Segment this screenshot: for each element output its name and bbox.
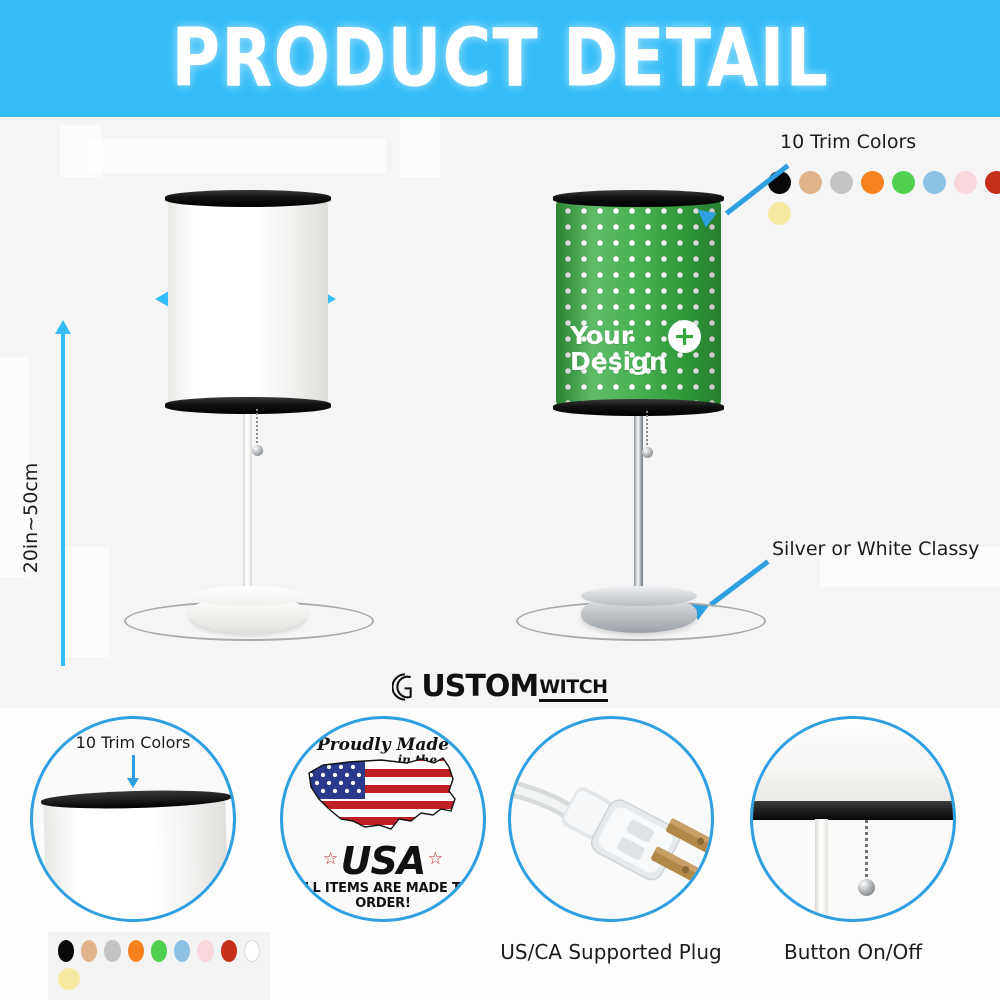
trim-swatch-light-blue[interactable] xyxy=(174,940,190,962)
trim-swatch-tan[interactable] xyxy=(799,171,822,194)
trim-swatch-white[interactable] xyxy=(244,940,260,962)
trim-swatch-pink[interactable] xyxy=(197,940,213,962)
onoff-shade-closeup xyxy=(750,716,956,801)
white-shade-trim-bottom xyxy=(165,397,331,414)
usa-script-top: Proudly Made xyxy=(283,735,483,755)
base-finish-callout-label: Silver or White Classy xyxy=(772,538,979,560)
page-title: PRODUCT DETAIL xyxy=(171,12,829,105)
trim-colors-down-arrow xyxy=(132,755,135,779)
button-on-off-caption: Button On/Off xyxy=(742,940,964,964)
trim-swatch-pink[interactable] xyxy=(954,171,977,194)
feature-button-on-off: Button On/Off xyxy=(742,716,964,922)
logo-sub-text: WITCH xyxy=(539,678,607,702)
arrow-shaft xyxy=(725,164,790,216)
usa-big-text: USA xyxy=(283,839,483,883)
trim-swatch-black[interactable] xyxy=(58,940,74,962)
product-stage: 7in~18cm 20in~50cm xyxy=(0,117,1000,707)
white-lamp xyxy=(160,197,335,647)
height-dimension-label: 20in~50cm xyxy=(20,448,42,588)
green-shade-gloss xyxy=(556,197,721,409)
usa-footer-text: ALL ITEMS ARE MADE TO ORDER! xyxy=(283,881,483,911)
trim-swatch-gray[interactable] xyxy=(830,171,853,194)
add-design-plus-icon[interactable]: + xyxy=(668,320,701,353)
bg-wash xyxy=(60,547,110,657)
onoff-black-trim xyxy=(750,801,956,820)
trim-color-swatch-row-primary xyxy=(768,171,1000,194)
trim-colors-shade-closeup xyxy=(43,798,228,922)
white-lamp-base-top xyxy=(190,586,306,606)
logo-c-icon xyxy=(392,672,420,702)
usa-star-right-icon: ☆ xyxy=(428,849,443,869)
chain-line xyxy=(256,409,258,447)
green-lamp-shade: Your Design + xyxy=(556,197,721,409)
trim-colors-inner-label: 10 Trim Colors xyxy=(33,733,233,752)
plug-caption: US/CA Supported Plug xyxy=(500,940,722,964)
feature-plug: US/CA Supported Plug xyxy=(500,716,722,922)
button-on-off-circle xyxy=(750,716,956,922)
bottom-swatch-row-1 xyxy=(58,940,260,962)
white-lamp-base xyxy=(190,595,306,633)
trim-swatch-tan[interactable] xyxy=(81,940,97,962)
brand-logo: USTOM WITCH xyxy=(0,666,1000,708)
usa-star-left-icon: ☆ xyxy=(323,849,338,869)
trim-swatch-green[interactable] xyxy=(892,171,915,194)
trim-swatch-gray[interactable] xyxy=(104,940,120,962)
trim-swatch-red[interactable] xyxy=(221,940,237,962)
chain-bead xyxy=(252,445,263,456)
design-line-2: Design xyxy=(570,349,698,375)
arrow-shaft xyxy=(709,560,770,607)
bg-wash xyxy=(400,117,440,177)
trim-swatch-light-blue[interactable] xyxy=(923,171,946,194)
usa-flag-map-icon xyxy=(303,753,469,839)
trim-swatch-red[interactable] xyxy=(985,171,1000,194)
trim-colors-arrow xyxy=(700,159,800,219)
product-detail-page: PRODUCT DETAIL 7in~18cm 20in~50cm xyxy=(0,0,1000,1000)
feature-row: 10 Trim Colors Proudly Made in the xyxy=(0,708,1000,1000)
chain-line xyxy=(646,411,648,449)
chain-bead xyxy=(642,447,653,458)
bottom-trim-color-swatches xyxy=(48,932,270,1000)
logo-lockup: USTOM WITCH xyxy=(392,672,607,702)
onoff-chain-line[interactable] xyxy=(865,820,868,882)
bg-wash xyxy=(86,139,386,173)
trim-swatch-orange[interactable] xyxy=(128,940,144,962)
white-shade-trim-top xyxy=(165,190,331,207)
white-lamp-pull-chain[interactable] xyxy=(256,409,258,447)
trim-swatch-orange[interactable] xyxy=(861,171,884,194)
white-shade-surface xyxy=(168,197,328,407)
green-shade-trim-top xyxy=(553,190,724,207)
made-in-usa-circle: Proudly Made in the xyxy=(280,716,486,922)
green-shade-body: Your Design + xyxy=(556,197,721,409)
plug-circle xyxy=(508,716,714,922)
white-shade-body xyxy=(168,197,328,407)
feature-trim-colors: 10 Trim Colors xyxy=(22,716,244,922)
trim-swatch-yellow[interactable] xyxy=(58,968,80,990)
green-shade-trim-bottom xyxy=(553,399,724,416)
trim-swatch-green[interactable] xyxy=(151,940,167,962)
trim-colors-circle: 10 Trim Colors xyxy=(30,716,236,922)
feature-made-in-usa: Proudly Made in the xyxy=(272,716,494,922)
power-plug-icon xyxy=(511,719,714,922)
header-banner: PRODUCT DETAIL xyxy=(0,0,1000,117)
trim-colors-callout-label: 10 Trim Colors xyxy=(780,131,916,153)
onoff-pole xyxy=(815,819,828,922)
green-lamp-base-top xyxy=(581,586,697,606)
onoff-chain-bead[interactable] xyxy=(858,879,875,896)
bottom-swatch-row-2 xyxy=(58,968,260,990)
green-lamp-pull-chain[interactable] xyxy=(646,411,648,449)
green-lamp-base xyxy=(581,595,697,633)
logo-main-text: USTOM xyxy=(421,672,538,702)
white-lamp-shade xyxy=(168,197,328,407)
